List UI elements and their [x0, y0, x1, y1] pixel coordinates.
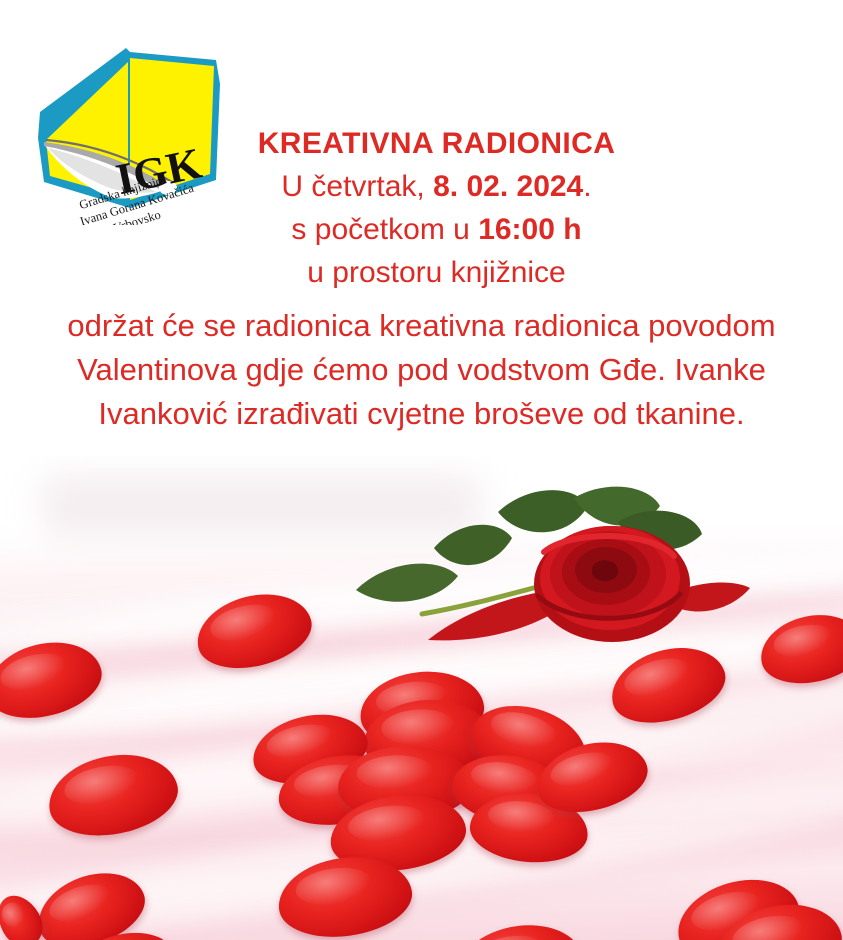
announcement-body-line-1: održat će se radionica kreativna radioni… — [0, 304, 843, 348]
red-rose-graphic — [330, 478, 750, 658]
date-suffix: . — [583, 170, 591, 203]
announcement-date-line: U četvrtak, 8. 02. 2024. — [0, 166, 843, 209]
announcement-place-line: u prostoru knjižnice — [0, 252, 843, 295]
rose-petal — [453, 917, 587, 940]
poster-root: IGK Gradska knjižnica Ivana Gorana Kovač… — [0, 0, 843, 940]
rose-leaf — [434, 525, 512, 565]
rose-photo — [0, 456, 843, 940]
announcement-body-line-3: Ivanković izrađivati cvjetne broševe od … — [0, 392, 843, 436]
rose-leaf — [498, 490, 588, 532]
date-prefix: U četvrtak, — [281, 170, 433, 203]
poster-header: IGK Gradska knjižnica Ivana Gorana Kovač… — [0, 0, 843, 456]
announcement-time-line: s početkom u 16:00 h — [0, 209, 843, 252]
announcement-body: održat će se radionica kreativna radioni… — [0, 304, 843, 436]
date-value: 8. 02. 2024 — [433, 170, 583, 203]
time-prefix: s početkom u — [291, 213, 478, 246]
red-rose — [330, 478, 750, 658]
rose-bloom — [534, 526, 690, 642]
time-value: 16:00 h — [478, 213, 581, 246]
rose-leaf — [356, 564, 458, 602]
announcement-text: KREATIVNA RADIONICA U četvrtak, 8. 02. 2… — [0, 126, 843, 436]
announcement-title: KREATIVNA RADIONICA — [0, 126, 843, 161]
announcement-body-line-2: Valentinova gdje ćemo pod vodstvom Gđe. … — [0, 348, 843, 392]
